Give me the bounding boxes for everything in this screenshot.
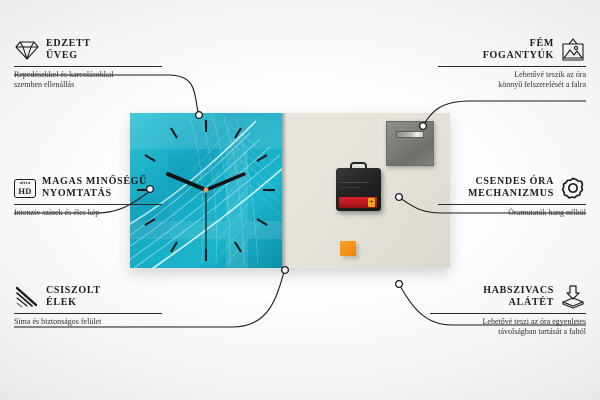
- desc-line-1: Sima és biztonságos felület: [14, 317, 162, 327]
- callout-description: Sima és biztonságos felület: [14, 317, 162, 327]
- mechanism-hook: [350, 162, 367, 170]
- title-line-1: EDZETT: [46, 38, 91, 50]
- desc-line-2: szemben ellenállás: [14, 80, 162, 90]
- callout-tempered-glass: EDZETT ÜVEG Repedésekkel és karcolásokka…: [14, 38, 162, 90]
- callout-polished-edges: CSISZOLT ÉLEK Sima és biztonságos felüle…: [14, 285, 162, 327]
- callout-header: EDZETT ÜVEG: [14, 38, 162, 62]
- desc-line-1: Lehetővé teszik az óra: [438, 70, 586, 80]
- title-line-2: ALÁTÉT: [483, 297, 554, 309]
- metal-hanger-bracket: [386, 121, 434, 166]
- callout-header: HABSZIVACS ALÁTÉT: [430, 285, 586, 309]
- callout-divider: [438, 66, 586, 67]
- callout-title: EDZETT ÜVEG: [46, 38, 91, 62]
- callout-description: Repedésekkel és karcolásokkal szemben el…: [14, 70, 162, 90]
- title-line-1: CSISZOLT: [46, 285, 101, 297]
- clock-back-panel: +: [282, 113, 450, 268]
- press-pad-icon: [560, 285, 586, 309]
- callout-header: FÉM FOGANTYÚK: [438, 38, 586, 62]
- desc-line-1: Repedésekkel és karcolásokkal: [14, 70, 162, 80]
- title-line-2: MECHANIZMUS: [468, 188, 554, 200]
- mechanism-seam: [339, 182, 369, 183]
- callout-header: CSISZOLT ÉLEK: [14, 285, 162, 309]
- title-line-2: ÜVEG: [46, 50, 91, 62]
- callout-title: CSISZOLT ÉLEK: [46, 285, 101, 309]
- callout-divider: [14, 313, 162, 314]
- callout-silent-mechanism: CSENDES ÓRA MECHANIZMUS Óramutatók hang …: [438, 176, 586, 218]
- diamond-icon: [14, 39, 40, 61]
- desc-line-1: Óramutatók hang nélkül: [438, 208, 586, 218]
- title-line-2: ÉLEK: [46, 297, 101, 309]
- callout-divider: [14, 204, 162, 205]
- title-line-1: CSENDES ÓRA: [468, 176, 554, 188]
- callout-description: Lehetővé teszi az óra egyenletes távolsá…: [430, 317, 586, 337]
- battery: +: [339, 197, 377, 208]
- gear-icon: [560, 176, 586, 200]
- ultra-hd-main-label: HD: [18, 187, 31, 196]
- title-line-1: FÉM: [483, 38, 554, 50]
- callout-header: CSENDES ÓRA MECHANIZMUS: [438, 176, 586, 200]
- leader-dot-foam: [396, 281, 403, 288]
- callout-divider: [430, 313, 586, 314]
- callout-divider: [438, 204, 586, 205]
- callout-divider: [14, 66, 162, 67]
- callout-header: ultra HD MAGAS MINŐSÉGŰ NYOMTATÁS: [14, 176, 162, 200]
- title-line-2: FOGANTYÚK: [483, 50, 554, 62]
- desc-line-1: Intenzív színek és éles kép: [14, 208, 162, 218]
- callout-title: CSENDES ÓRA MECHANIZMUS: [468, 176, 554, 200]
- title-line-1: MAGAS MINŐSÉGŰ: [42, 176, 147, 188]
- callout-foam-pad: HABSZIVACS ALÁTÉT Lehetővé teszi az óra …: [430, 285, 586, 337]
- infographic-canvas: +: [0, 0, 600, 400]
- clock-mechanism-box: +: [336, 168, 381, 211]
- callout-metal-handles: FÉM FOGANTYÚK Lehetővé teszik az óra kön…: [438, 38, 586, 90]
- desc-line-2: könnyű felszerelését a falra: [438, 80, 586, 90]
- foam-pad-spacer: [340, 241, 356, 256]
- callout-title: FÉM FOGANTYÚK: [483, 38, 554, 62]
- ultra-hd-sub-label: ultra: [20, 181, 31, 186]
- desc-line-1: Lehetővé teszi az óra egyenletes: [430, 317, 586, 327]
- callout-high-quality-print: ultra HD MAGAS MINŐSÉGŰ NYOMTATÁS Intenz…: [14, 176, 162, 218]
- picture-frame-icon: [560, 38, 586, 62]
- callout-title: MAGAS MINŐSÉGŰ NYOMTATÁS: [42, 176, 147, 200]
- callout-description: Óramutatók hang nélkül: [438, 208, 586, 218]
- bracket-slot: [396, 131, 424, 138]
- battery-plus-terminal: +: [368, 198, 375, 207]
- desc-line-2: távolságban tartását a faltól: [430, 327, 586, 337]
- title-line-1: HABSZIVACS: [483, 285, 554, 297]
- callout-description: Intenzív színek és éles kép: [14, 208, 162, 218]
- callout-description: Lehetővé teszik az óra könnyű felszerelé…: [438, 70, 586, 90]
- title-line-2: NYOMTATÁS: [42, 188, 147, 200]
- ultra-hd-icon: ultra HD: [14, 179, 36, 198]
- callout-title: HABSZIVACS ALÁTÉT: [483, 285, 554, 309]
- polished-edge-icon: [14, 286, 40, 308]
- product-photo: +: [130, 113, 450, 268]
- mechanism-seam-2: [339, 187, 361, 188]
